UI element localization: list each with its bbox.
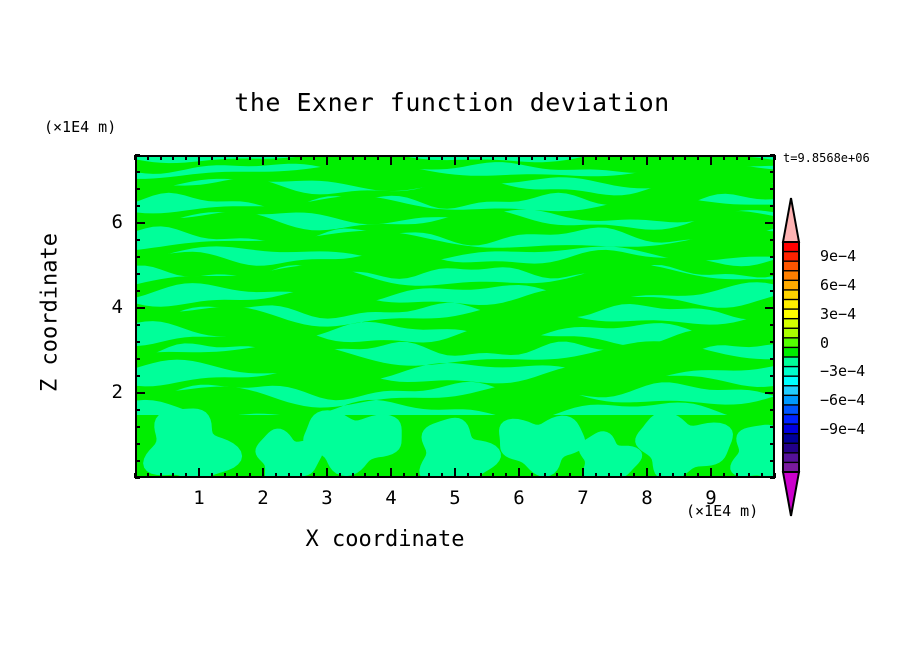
colorbar-band <box>783 252 799 262</box>
y-axis-tick <box>135 460 140 462</box>
colorbar-band <box>783 261 799 271</box>
colorbar-tick-label: −6e−4 <box>820 391 865 409</box>
x-axis-tick <box>249 473 251 478</box>
y-axis-tick <box>135 256 140 258</box>
y-axis-tick <box>135 222 145 224</box>
x-axis-tick <box>211 473 213 478</box>
colorbar-tick-label: 6e−4 <box>820 276 856 294</box>
colorbar-band <box>783 309 799 319</box>
x-axis-tick <box>236 155 238 160</box>
colorbar-band <box>783 424 799 434</box>
x-axis-tick <box>428 155 430 160</box>
x-axis-tick <box>531 155 533 160</box>
x-axis-tick <box>556 155 558 160</box>
x-axis-tick <box>684 155 686 160</box>
x-axis-tick <box>505 155 507 160</box>
x-axis-tick <box>544 155 546 160</box>
y-axis-tick <box>135 443 140 445</box>
x-axis-tick <box>147 473 149 478</box>
x-axis-tick <box>352 473 354 478</box>
y-axis-unit-label: (×1E4 m) <box>44 118 116 136</box>
x-axis-tick-label: 8 <box>627 487 667 509</box>
colorbar-tick-label: −9e−4 <box>820 420 865 438</box>
y-axis-tick <box>135 273 140 275</box>
x-axis-tick <box>326 468 328 478</box>
colorbar <box>775 196 815 518</box>
x-axis-tick <box>672 473 674 478</box>
x-axis-tick-label: 6 <box>499 487 539 509</box>
x-axis-tick <box>390 155 392 165</box>
x-axis-tick <box>505 473 507 478</box>
x-axis-tick <box>339 155 341 160</box>
x-axis-tick <box>224 473 226 478</box>
x-axis-tick <box>518 468 520 478</box>
colorbar-band <box>783 415 799 425</box>
x-axis-tick-label: 7 <box>563 487 603 509</box>
y-axis-tick <box>770 154 775 156</box>
x-axis-tick <box>697 155 699 160</box>
x-axis-tick <box>697 473 699 478</box>
x-axis-tick <box>595 473 597 478</box>
colorbar-band <box>783 367 799 377</box>
x-axis-tick <box>249 155 251 160</box>
y-axis-tick <box>135 375 140 377</box>
x-axis-unit-label: (×1E4 m) <box>686 502 758 520</box>
x-axis-tick <box>185 473 187 478</box>
x-axis-tick <box>736 473 738 478</box>
colorbar-band <box>783 395 799 405</box>
x-axis-tick <box>326 155 328 165</box>
x-axis-tick <box>454 468 456 478</box>
colorbar-under-arrow <box>783 472 799 516</box>
x-axis-tick <box>441 473 443 478</box>
x-axis-tick <box>736 155 738 160</box>
x-axis-tick <box>684 473 686 478</box>
x-axis-tick <box>723 155 725 160</box>
y-axis-tick <box>135 409 140 411</box>
y-axis-tick <box>135 426 140 428</box>
x-axis-tick <box>377 473 379 478</box>
x-axis-tick <box>492 473 494 478</box>
x-axis-tick <box>480 473 482 478</box>
x-axis-tick <box>275 473 277 478</box>
x-axis-tick <box>172 473 174 478</box>
colorbar-tick-label: 0 <box>820 334 829 352</box>
timestamp-label: t=9.8568e+06 <box>783 151 870 165</box>
colorbar-tick-label: 3e−4 <box>820 305 856 323</box>
x-axis-tick <box>531 473 533 478</box>
colorbar-band <box>783 319 799 329</box>
x-axis-tick <box>672 155 674 160</box>
x-axis-tick-label: 1 <box>179 487 219 509</box>
y-axis-tick <box>135 205 140 207</box>
y-axis-tick <box>135 188 140 190</box>
colorbar-band <box>783 271 799 281</box>
x-axis-tick <box>633 155 635 160</box>
x-axis-title: X coordinate <box>0 527 770 552</box>
x-axis-tick <box>620 155 622 160</box>
x-axis-tick <box>172 155 174 160</box>
colorbar-band <box>783 453 799 463</box>
x-axis-tick <box>288 155 290 160</box>
x-axis-tick <box>467 155 469 160</box>
x-axis-tick <box>364 155 366 160</box>
x-axis-tick <box>403 473 405 478</box>
x-axis-tick <box>646 468 648 478</box>
contour-field <box>137 157 773 476</box>
y-axis-title: Z coordinate <box>38 213 63 413</box>
colorbar-tick-label: −3e−4 <box>820 362 865 380</box>
x-axis-tick <box>633 473 635 478</box>
x-axis-tick <box>160 473 162 478</box>
x-axis-tick <box>748 155 750 160</box>
colorbar-band <box>783 376 799 386</box>
x-axis-tick <box>428 473 430 478</box>
y-axis-tick <box>765 307 775 309</box>
x-axis-tick <box>211 155 213 160</box>
colorbar-band <box>783 328 799 338</box>
x-axis-tick <box>224 155 226 160</box>
x-axis-tick <box>748 473 750 478</box>
colorbar-band <box>783 386 799 396</box>
x-axis-tick <box>390 468 392 478</box>
x-axis-tick <box>416 155 418 160</box>
x-axis-tick <box>352 155 354 160</box>
y-axis-tick-label: 4 <box>83 296 123 318</box>
x-axis-tick <box>761 473 763 478</box>
x-axis-tick <box>377 155 379 160</box>
x-axis-tick <box>723 473 725 478</box>
x-axis-tick <box>364 473 366 478</box>
colorbar-over-arrow <box>783 198 799 242</box>
x-axis-tick <box>582 468 584 478</box>
colorbar-band <box>783 338 799 348</box>
x-axis-tick <box>300 155 302 160</box>
y-axis-tick <box>135 239 140 241</box>
y-axis-tick <box>770 188 775 190</box>
x-axis-tick <box>492 155 494 160</box>
y-axis-tick <box>135 290 140 292</box>
y-axis-tick <box>135 324 140 326</box>
x-axis-tick <box>646 155 648 165</box>
x-axis-tick <box>518 155 520 165</box>
y-axis-tick <box>135 171 140 173</box>
x-axis-tick <box>300 473 302 478</box>
x-axis-tick <box>236 473 238 478</box>
contour-plot-figure: the Exner function deviation (×1E4 m) t=… <box>0 0 904 654</box>
x-axis-tick <box>710 468 712 478</box>
x-axis-tick <box>198 468 200 478</box>
x-axis-tick <box>339 473 341 478</box>
colorbar-band <box>783 280 799 290</box>
x-axis-tick <box>403 155 405 160</box>
x-axis-tick <box>313 155 315 160</box>
x-axis-tick <box>147 155 149 160</box>
y-axis-tick-label: 6 <box>83 211 123 233</box>
x-axis-tick <box>313 473 315 478</box>
y-axis-tick <box>770 171 775 173</box>
x-axis-tick-label: 5 <box>435 487 475 509</box>
x-axis-tick <box>480 155 482 160</box>
x-axis-tick <box>608 155 610 160</box>
colorbar-band <box>783 242 799 252</box>
y-axis-tick <box>135 358 140 360</box>
colorbar-band <box>783 443 799 453</box>
x-axis-tick <box>160 155 162 160</box>
y-axis-tick <box>765 222 775 224</box>
x-axis-tick <box>275 155 277 160</box>
colorbar-gradient <box>775 196 815 518</box>
page-title: the Exner function deviation <box>0 88 904 117</box>
x-axis-tick <box>569 155 571 160</box>
x-axis-tick <box>620 473 622 478</box>
x-axis-tick <box>608 473 610 478</box>
x-axis-tick <box>288 473 290 478</box>
colorbar-band <box>783 347 799 357</box>
x-axis-tick <box>441 155 443 160</box>
x-axis-tick <box>761 155 763 160</box>
x-axis-tick-label: 3 <box>307 487 347 509</box>
x-axis-tick <box>582 155 584 165</box>
colorbar-band <box>783 434 799 444</box>
x-axis-tick <box>416 473 418 478</box>
y-axis-tick <box>765 392 775 394</box>
y-axis-tick-label: 2 <box>83 381 123 403</box>
x-axis-tick <box>569 473 571 478</box>
x-axis-tick <box>262 468 264 478</box>
colorbar-band <box>783 405 799 415</box>
x-axis-tick <box>198 155 200 165</box>
x-axis-tick <box>467 473 469 478</box>
colorbar-band <box>783 300 799 310</box>
x-axis-tick-label: 4 <box>371 487 411 509</box>
x-axis-tick <box>659 155 661 160</box>
y-axis-tick <box>135 154 140 156</box>
x-axis-tick <box>710 155 712 165</box>
colorbar-band <box>783 357 799 367</box>
y-axis-tick <box>135 477 140 479</box>
x-axis-tick-label: 2 <box>243 487 283 509</box>
x-axis-tick <box>262 155 264 165</box>
x-axis-tick <box>659 473 661 478</box>
x-axis-tick <box>556 473 558 478</box>
colorbar-band <box>783 290 799 300</box>
y-axis-tick <box>135 341 140 343</box>
plot-area <box>135 155 775 478</box>
x-axis-tick <box>595 155 597 160</box>
x-axis-tick <box>544 473 546 478</box>
y-axis-tick <box>135 307 145 309</box>
colorbar-tick-label: 9e−4 <box>820 247 856 265</box>
x-axis-tick <box>185 155 187 160</box>
y-axis-tick <box>135 392 145 394</box>
x-axis-tick <box>454 155 456 165</box>
